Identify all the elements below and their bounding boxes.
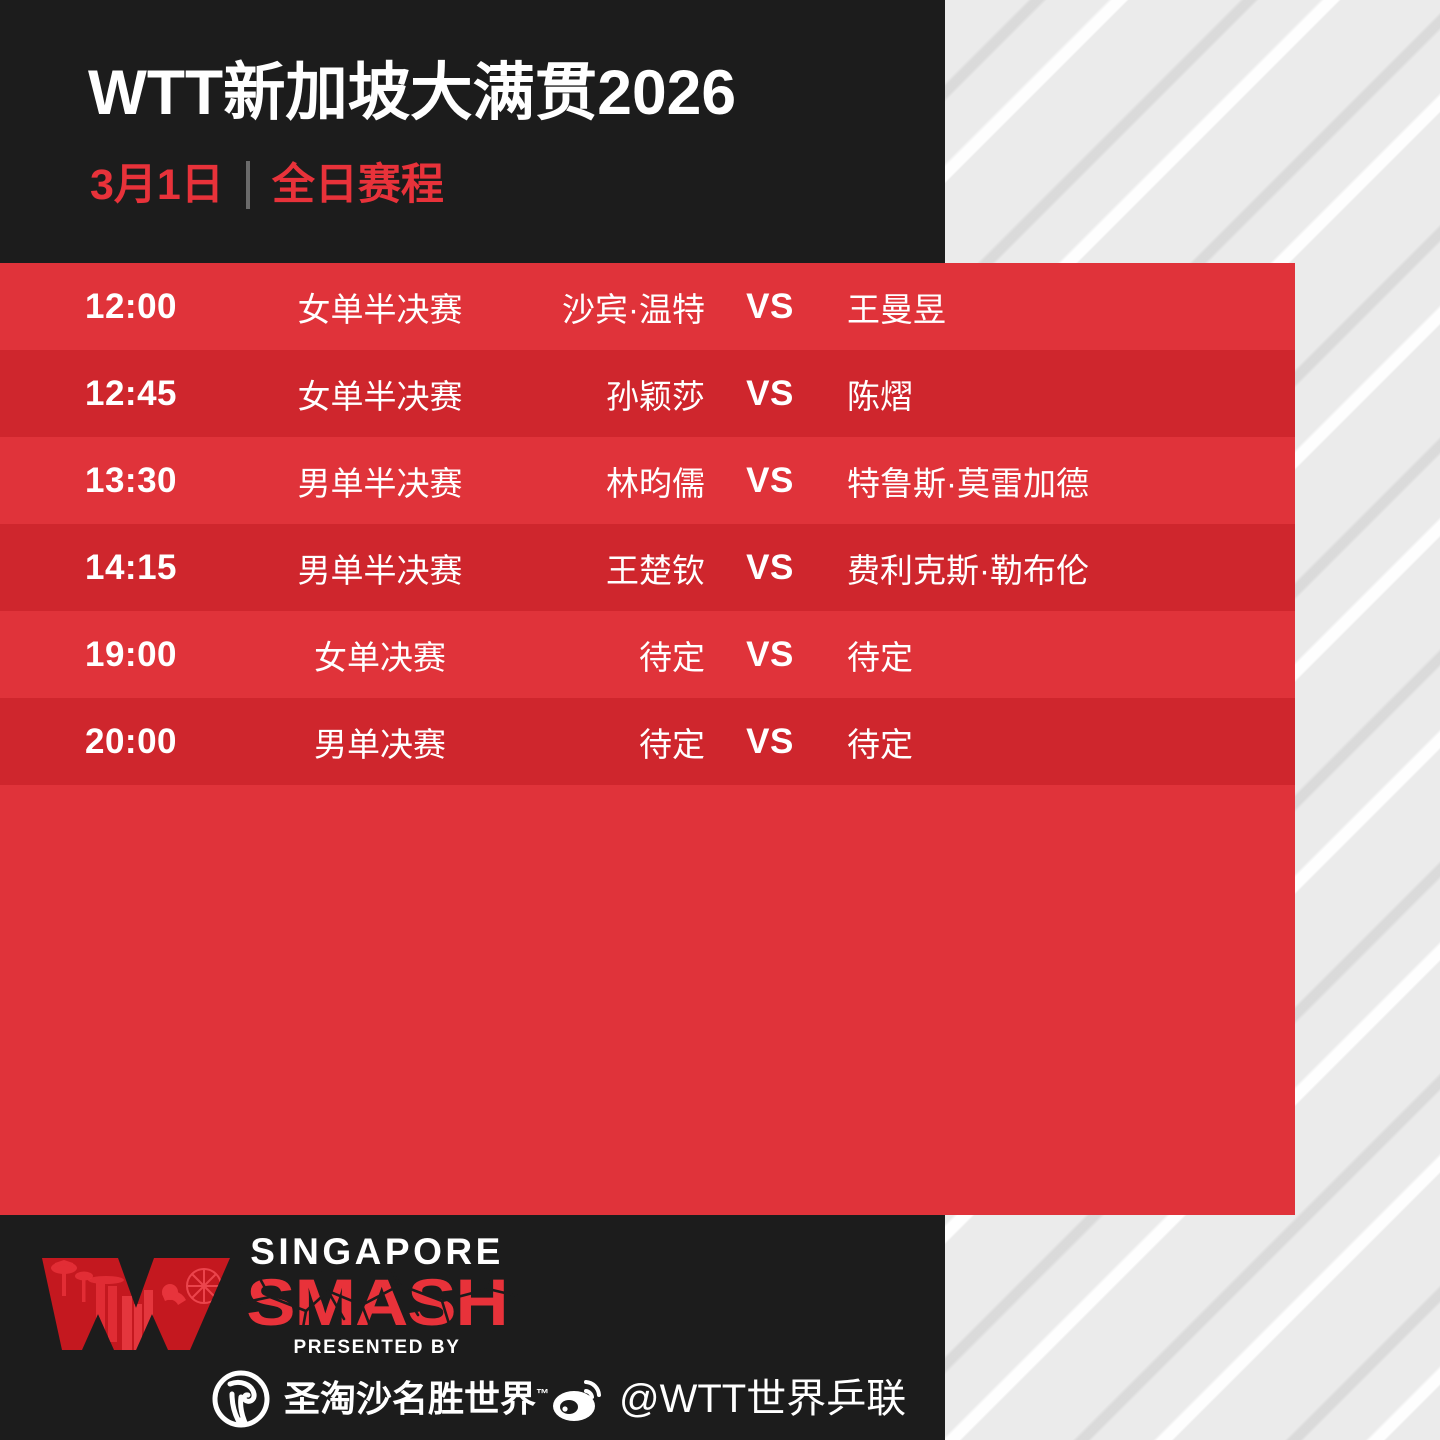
match-event: 女单决赛: [265, 631, 495, 679]
table-row[interactable]: 12:45 女单半决赛 孙颖莎 VS 陈熠: [0, 350, 1295, 437]
vs-label: VS: [715, 461, 825, 501]
sponsor-lockup: 圣淘沙名胜世界™: [212, 1370, 549, 1428]
match-event: 男单半决赛: [265, 457, 495, 505]
match-time: 12:45: [85, 374, 265, 414]
sponsor-name: 圣淘沙名胜世界™: [284, 1381, 549, 1417]
page-title: WTT新加坡大满贯2026: [88, 62, 736, 125]
player-two: 王曼昱: [825, 283, 1295, 331]
match-time: 13:30: [85, 461, 265, 501]
table-row[interactable]: 19:00 女单决赛 待定 VS 待定: [0, 611, 1295, 698]
subtitle-divider: [246, 161, 250, 209]
match-time: 19:00: [85, 635, 265, 675]
table-row[interactable]: 12:00 女单半决赛 沙宾·温特 VS 王曼昱: [0, 263, 1295, 350]
player-one: 沙宾·温特: [495, 283, 715, 331]
match-time: 14:15: [85, 548, 265, 588]
player-two: 特鲁斯·莫雷加德: [825, 457, 1295, 505]
event-date: 3月1日: [90, 164, 224, 207]
player-two: 待定: [825, 631, 1295, 679]
player-one: 林昀儒: [495, 457, 715, 505]
player-one: 孙颖莎: [495, 370, 715, 418]
subtitle-label: 全日赛程: [272, 164, 444, 207]
player-one: 王楚钦: [495, 544, 715, 592]
player-two: 陈熠: [825, 370, 1295, 418]
table-row[interactable]: 14:15 男单半决赛 王楚钦 VS 费利克斯·勒布伦: [0, 524, 1295, 611]
table-row[interactable]: 20:00 男单决赛 待定 VS 待定: [0, 698, 1295, 785]
match-event: 男单决赛: [265, 718, 495, 766]
singapore-smash-logo: SINGAPORE SMASH PRESENTED BY: [232, 1233, 522, 1357]
weibo-handle-text: @WTT世界乒联: [619, 1379, 906, 1419]
vs-label: VS: [715, 287, 825, 327]
player-one: 待定: [495, 631, 715, 679]
match-event: 女单半决赛: [265, 283, 495, 331]
vs-label: VS: [715, 374, 825, 414]
social-handle-block[interactable]: @WTT世界乒联: [552, 1372, 906, 1426]
match-time: 12:00: [85, 287, 265, 327]
logo-smash-wrap: SMASH: [232, 1271, 522, 1333]
player-one: 待定: [495, 718, 715, 766]
vs-label: VS: [715, 722, 825, 762]
trademark-symbol: ™: [536, 1386, 549, 1401]
player-two: 待定: [825, 718, 1295, 766]
presented-by-label: PRESENTED BY: [232, 1338, 522, 1357]
schedule-panel: 12:00 女单半决赛 沙宾·温特 VS 王曼昱 12:45 女单半决赛 孙颖莎…: [0, 263, 1295, 1215]
logo-smash-text: SMASH: [215, 1271, 540, 1333]
match-time: 20:00: [85, 722, 265, 762]
weibo-icon: [552, 1376, 606, 1422]
match-event: 女单半决赛: [265, 370, 495, 418]
subtitle-row: 3月1日 全日赛程: [90, 157, 444, 213]
resorts-world-sentosa-icon: [212, 1370, 270, 1428]
table-row[interactable]: 13:30 男单半决赛 林昀儒 VS 特鲁斯·莫雷加德: [0, 437, 1295, 524]
header-banner: WTT新加坡大满贯2026 3月1日 全日赛程: [0, 0, 945, 263]
sponsor-name-text: 圣淘沙名胜世界: [284, 1378, 536, 1419]
wtt-w-skyline-icon: [40, 1252, 232, 1356]
match-event: 男单半决赛: [265, 544, 495, 592]
vs-label: VS: [715, 635, 825, 675]
player-two: 费利克斯·勒布伦: [825, 544, 1295, 592]
vs-label: VS: [715, 548, 825, 588]
